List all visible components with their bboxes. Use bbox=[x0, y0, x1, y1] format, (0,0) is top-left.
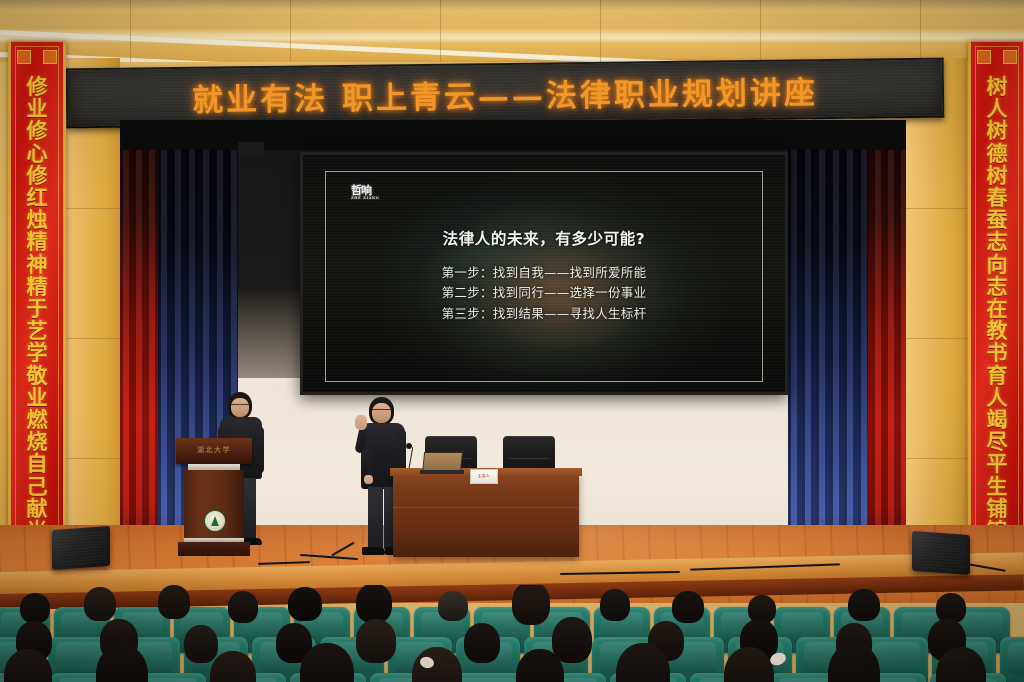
couplet-char: 人 bbox=[987, 387, 1008, 409]
slide-line-1: 第一步：找到自我——找到所爱所能 bbox=[303, 263, 785, 283]
couplet-char: 精 bbox=[27, 276, 48, 298]
slide-logo: 哲响 ZHE XIANG bbox=[351, 185, 379, 201]
couplet-char: 德 bbox=[987, 143, 1008, 165]
wall-pillar-left bbox=[58, 58, 120, 558]
audience-head bbox=[184, 625, 218, 663]
couplet-char: 竭 bbox=[987, 409, 1008, 431]
couplet-char: 树 bbox=[987, 120, 1008, 142]
ceiling-seam bbox=[0, 30, 1024, 62]
couplet-char: 敬 bbox=[27, 365, 48, 387]
couplet-char: 铺 bbox=[987, 498, 1008, 520]
name-card-text: 主讲人 bbox=[478, 474, 490, 479]
speaker-grille bbox=[916, 535, 966, 570]
couplet-char: 献 bbox=[27, 498, 48, 520]
slide-logo-subtext: ZHE XIANG bbox=[351, 197, 379, 201]
led-banner: 就业有法 职上青云——法律职业规划讲座 bbox=[66, 58, 945, 129]
slide-line-2: 第二步：找到同行——选择一份事业 bbox=[303, 283, 785, 303]
name-card: 主讲人 bbox=[470, 469, 498, 484]
couplet-char: 于 bbox=[27, 298, 48, 320]
audience-head bbox=[672, 591, 704, 623]
auditorium-lecture-photo: 就业有法 职上青云——法律职业规划讲座 哲响 ZHE XIANG 法律人的未来，… bbox=[0, 0, 1024, 682]
couplet-left: 修业修心修红烛精神精于艺学敬业燃烧自己献光明 bbox=[8, 42, 66, 562]
speaker-grille bbox=[56, 530, 106, 565]
audience-head bbox=[288, 587, 322, 621]
projection-screen: 哲响 ZHE XIANG 法律人的未来，有多少可能? 第一步：找到自我——找到所… bbox=[300, 152, 788, 395]
glasses-icon bbox=[372, 409, 391, 410]
audience-head bbox=[356, 619, 396, 663]
couplet-char: 树 bbox=[987, 165, 1008, 187]
podium-base bbox=[178, 542, 250, 556]
couplet-char: 心 bbox=[27, 143, 48, 165]
couplet-right: 树人树德树春蚕志向志在教书育人竭尽平生铺锦绣 bbox=[968, 42, 1024, 562]
couplet-char: 树 bbox=[987, 76, 1008, 98]
couplet-seal-icon bbox=[17, 50, 31, 64]
couplet-right-text: 树人树德树春蚕志向志在教书育人竭尽平生铺锦绣 bbox=[971, 76, 1023, 558]
couplet-char: 志 bbox=[987, 231, 1008, 253]
couplet-char: 燃 bbox=[27, 409, 48, 431]
stage-curtain-blue-right bbox=[788, 120, 868, 558]
audience-head bbox=[228, 591, 258, 623]
podium-sign-text: 湖北大学 bbox=[176, 445, 252, 455]
conference-table bbox=[393, 473, 579, 557]
couplet-char: 育 bbox=[987, 365, 1008, 387]
audience-area bbox=[0, 585, 1024, 682]
laptop-base bbox=[420, 470, 464, 474]
crest-tree-icon bbox=[211, 516, 219, 526]
couplet-char: 志 bbox=[987, 276, 1008, 298]
couplet-char: 在 bbox=[987, 298, 1008, 320]
audience-head bbox=[600, 589, 630, 621]
audience-head bbox=[20, 593, 50, 623]
audience-head bbox=[464, 623, 500, 663]
couplet-seal-icon bbox=[43, 50, 57, 64]
couplet-char: 书 bbox=[987, 342, 1008, 364]
banner-title-text: 就业有法 职上青云——法律职业规划讲座 bbox=[192, 67, 818, 120]
audience-head bbox=[356, 585, 392, 623]
audience-head bbox=[158, 585, 190, 619]
ceiling-shadow bbox=[0, 0, 1024, 10]
slide-body: 第一步：找到自我——找到所爱所能 第二步：找到同行——选择一份事业 第三步：找到… bbox=[303, 263, 785, 324]
raised-hand bbox=[355, 415, 367, 430]
lectern-podium: 湖北大学 bbox=[178, 438, 250, 556]
podium-top: 湖北大学 bbox=[176, 438, 252, 464]
audience-head bbox=[84, 587, 116, 621]
couplet-char: 红 bbox=[27, 187, 48, 209]
couplet-char: 神 bbox=[27, 254, 48, 276]
couplet-char: 业 bbox=[27, 387, 48, 409]
table-seam bbox=[393, 507, 579, 508]
podium-body bbox=[184, 470, 244, 544]
couplet-char: 生 bbox=[987, 476, 1008, 498]
audience-head bbox=[848, 589, 880, 621]
couplet-char: 学 bbox=[27, 342, 48, 364]
audience-head bbox=[438, 591, 468, 621]
couplet-seal-icon bbox=[1003, 50, 1017, 64]
slide-title: 法律人的未来，有多少可能? bbox=[303, 227, 785, 249]
slide-line-3: 第三步：找到结果——寻找人生标杆 bbox=[303, 304, 785, 324]
couplet-char: 春 bbox=[987, 187, 1008, 209]
wall-pillar-right bbox=[905, 58, 967, 558]
couplet-char: 己 bbox=[27, 476, 48, 498]
stage-monitor-right bbox=[912, 531, 970, 575]
couplet-char: 修 bbox=[27, 76, 48, 98]
couplet-char: 修 bbox=[27, 120, 48, 142]
stage-monitor-left bbox=[52, 526, 110, 570]
couplet-char: 自 bbox=[27, 453, 48, 475]
couplet-left-text: 修业修心修红烛精神精于艺学敬业燃烧自己献光明 bbox=[11, 76, 63, 558]
university-crest-icon bbox=[204, 510, 226, 532]
couplet-char: 精 bbox=[27, 231, 48, 253]
audience-head bbox=[552, 617, 592, 663]
couplet-char: 向 bbox=[987, 254, 1008, 276]
audience-head bbox=[512, 585, 550, 625]
glasses-icon bbox=[231, 404, 249, 405]
couplet-char: 平 bbox=[987, 453, 1008, 475]
couplet-char: 修 bbox=[27, 165, 48, 187]
projection-screen-surface: 哲响 ZHE XIANG 法律人的未来，有多少可能? 第一步：找到自我——找到所… bbox=[303, 155, 785, 392]
couplet-seal-icon bbox=[977, 50, 991, 64]
ceiling-projector-icon bbox=[238, 142, 264, 156]
